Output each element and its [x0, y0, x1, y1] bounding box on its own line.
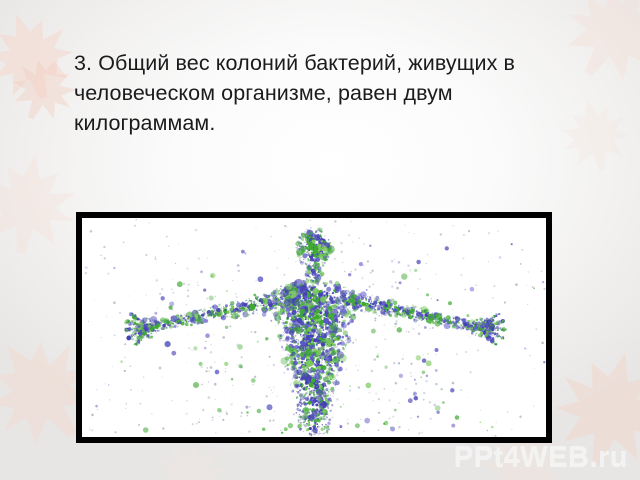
site-watermark: PPt4WEB.ru — [454, 441, 628, 474]
bacteria-human-figure-illustration — [82, 218, 546, 437]
slide-headline: 3. Общий вес колоний бактерий, живущих в… — [74, 48, 544, 138]
slide-canvas: 3. Общий вес колоний бактерий, живущих в… — [0, 0, 640, 480]
picture-canvas — [82, 218, 546, 437]
maple-leaf-icon — [539, 0, 640, 107]
picture-frame — [76, 212, 552, 443]
maple-leaf-icon — [549, 89, 640, 182]
